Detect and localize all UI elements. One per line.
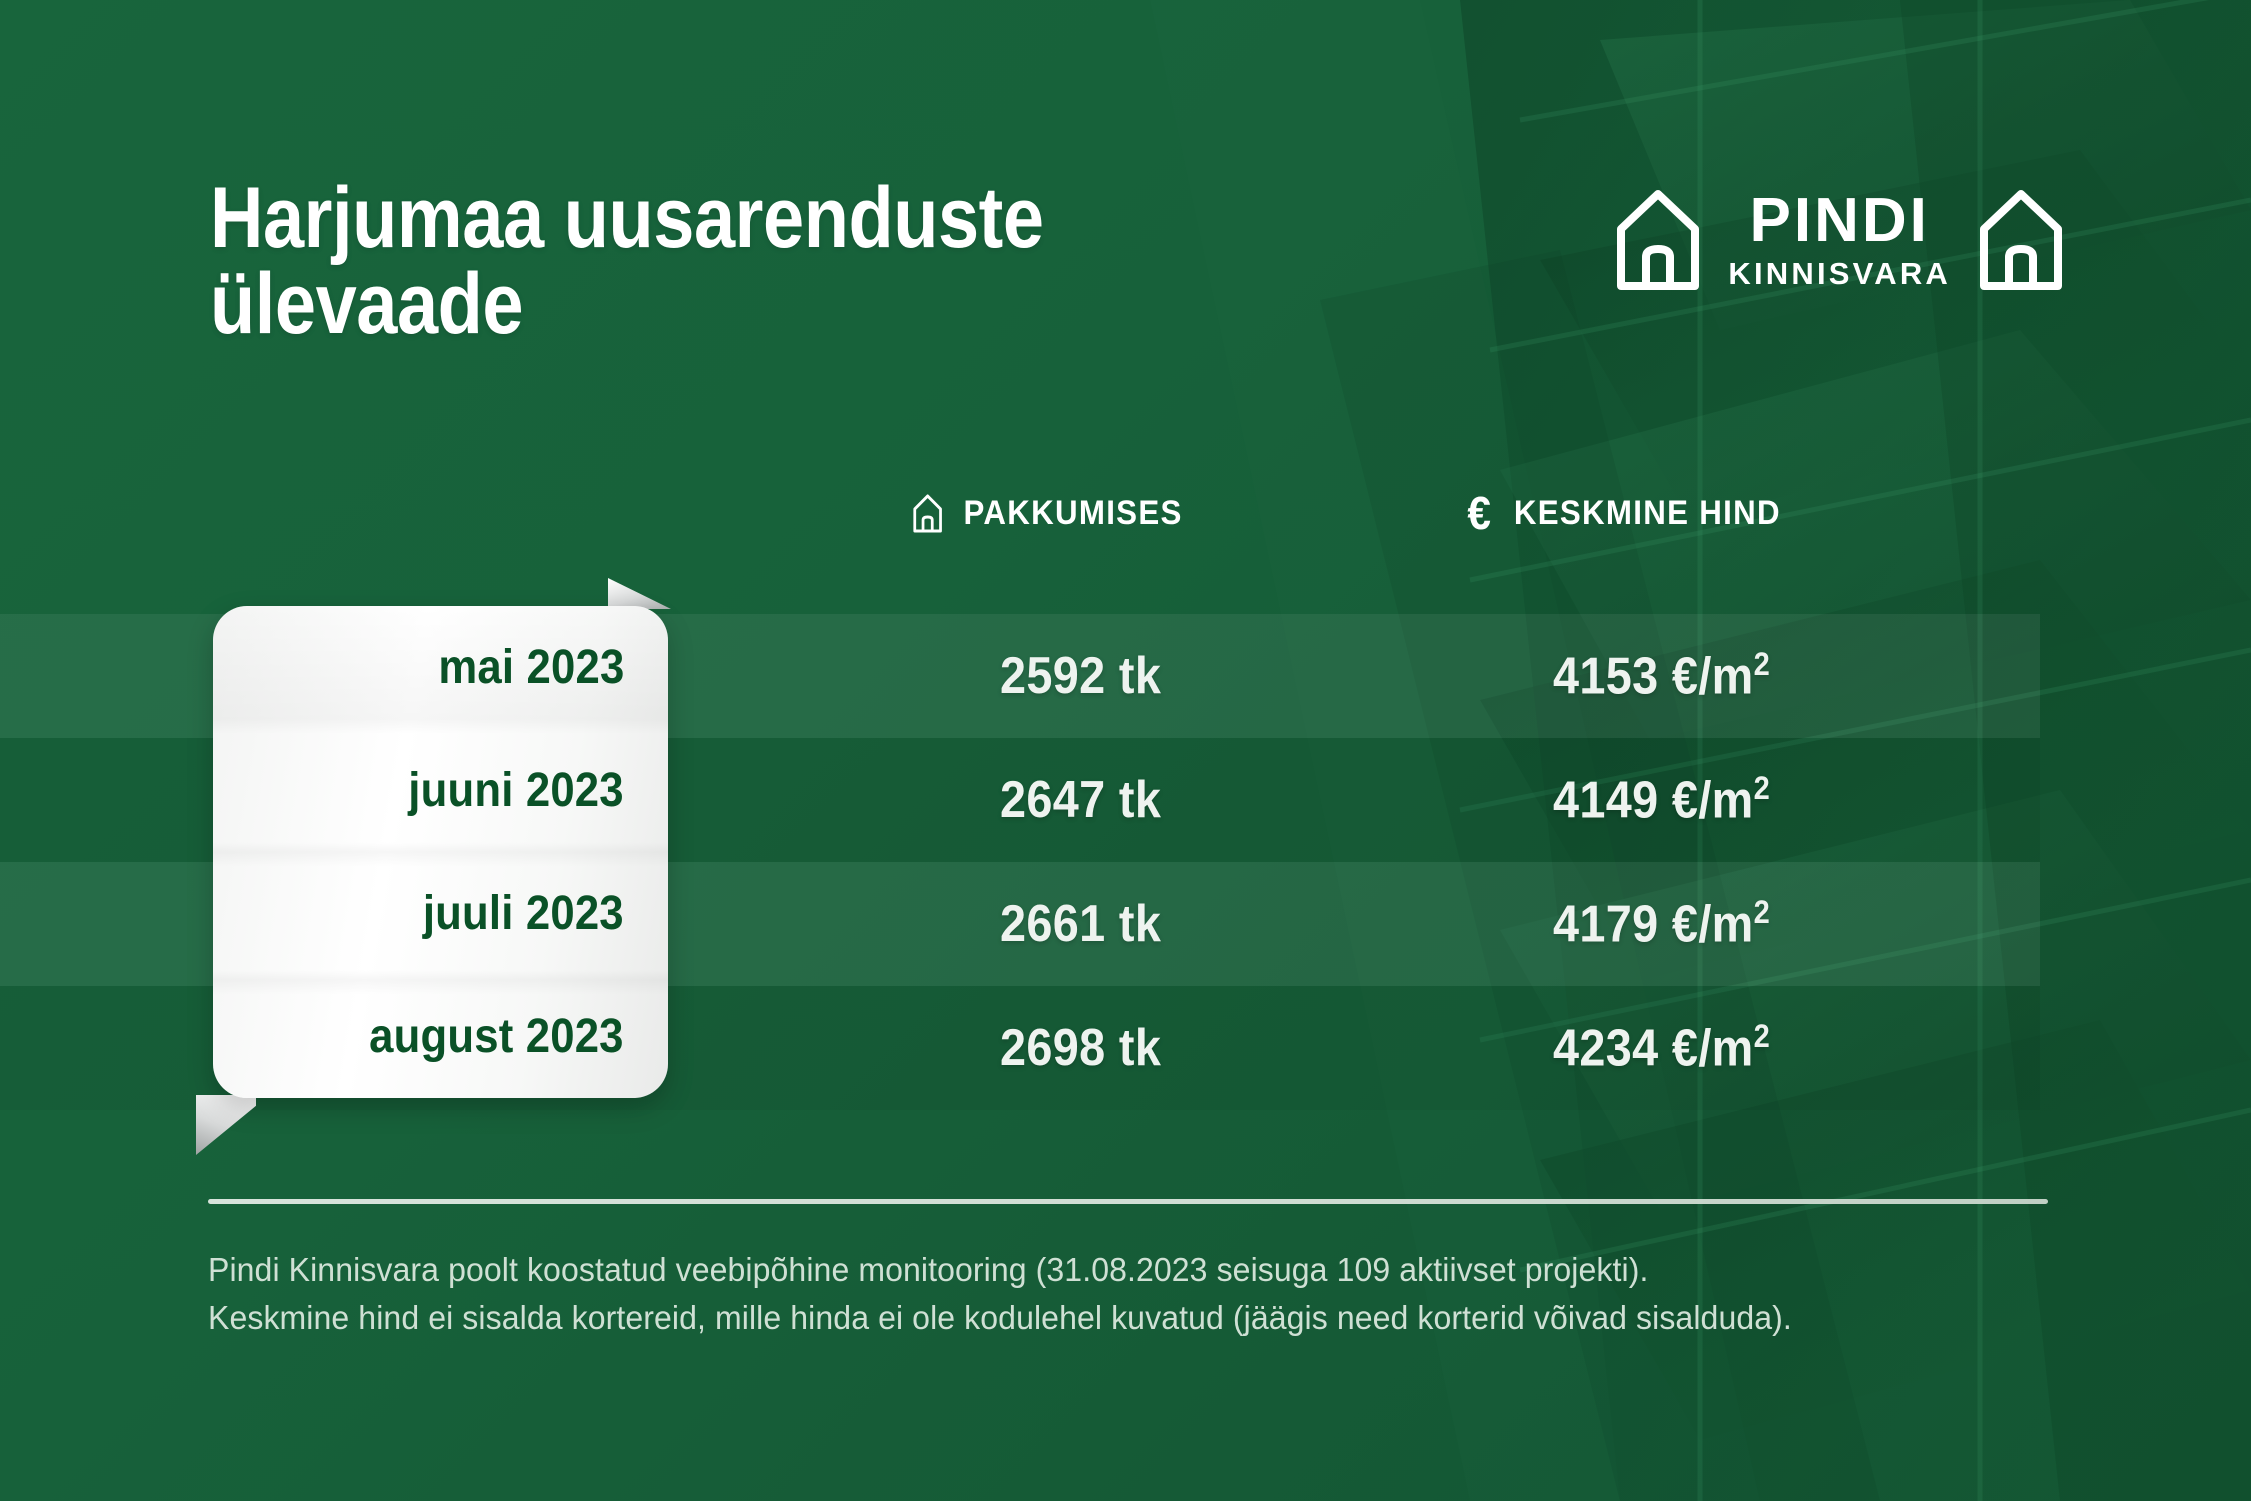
column-header-offers: PAKKUMISES	[912, 492, 1183, 534]
footnote-divider	[208, 1199, 2048, 1204]
cell-price-unit: €/m	[1672, 895, 1754, 953]
cell-price: 4149 €/m2	[1553, 770, 1770, 830]
cell-price-exponent: 2	[1754, 1018, 1770, 1054]
column-header-price: € KESKMINE HIND	[1466, 492, 1781, 534]
footnote-line-1: Pindi Kinnisvara poolt koostatud veebipõ…	[208, 1246, 2051, 1294]
cell-price-value: 4153	[1553, 647, 1659, 705]
euro-icon: €	[1466, 492, 1494, 534]
header: Harjumaa uusarenduste ülevaade PINDI KIN…	[210, 175, 2090, 347]
cell-price-unit: €/m	[1672, 1019, 1754, 1077]
cell-price-unit: €/m	[1672, 771, 1754, 829]
cell-offers: 2647 tk	[1000, 770, 1161, 830]
month-label: juuni 2023	[409, 763, 624, 818]
cell-price-value: 4179	[1553, 895, 1659, 953]
cell-price-exponent: 2	[1754, 646, 1770, 682]
footnote: Pindi Kinnisvara poolt koostatud veebipõ…	[208, 1246, 2051, 1342]
infographic-canvas: Harjumaa uusarenduste ülevaade PINDI KIN…	[0, 0, 2251, 1501]
list-item: juuli 2023	[213, 852, 668, 975]
column-header-price-label: KESKMINE HIND	[1514, 494, 1781, 533]
ribbon-fold-top-icon	[608, 578, 671, 609]
brand-wordmark: PINDI KINNISVARA	[1728, 190, 1951, 289]
month-list: mai 2023 juuni 2023 juuli 2023 august 20…	[213, 606, 668, 1098]
brand-logo[interactable]: PINDI KINNISVARA	[1614, 185, 2065, 293]
brand-subtitle: KINNISVARA	[1728, 258, 1951, 289]
brand-name: PINDI	[1750, 190, 1930, 252]
footnote-line-2: Keskmine hind ei sisalda kortereid, mill…	[208, 1294, 2051, 1342]
month-label: juuli 2023	[423, 886, 624, 941]
cell-price: 4234 €/m2	[1553, 1018, 1770, 1078]
month-ribbon: mai 2023 juuni 2023 juuli 2023 august 20…	[213, 606, 668, 1098]
cell-price-exponent: 2	[1754, 770, 1770, 806]
cell-price: 4179 €/m2	[1553, 894, 1770, 954]
cell-offers: 2592 tk	[1000, 646, 1161, 706]
list-item: august 2023	[213, 975, 668, 1098]
cell-offers: 2661 tk	[1000, 894, 1161, 954]
table-column-headers: PAKKUMISES € KESKMINE HIND	[0, 492, 2251, 556]
cell-price-value: 4234	[1553, 1019, 1659, 1077]
cell-price: 4153 €/m2	[1553, 646, 1770, 706]
house-outline-icon	[1977, 185, 2065, 293]
column-header-offers-label: PAKKUMISES	[964, 494, 1183, 533]
house-icon	[912, 492, 943, 534]
list-item: juuni 2023	[213, 729, 668, 852]
cell-price-value: 4149	[1553, 771, 1659, 829]
cell-price-unit: €/m	[1672, 647, 1754, 705]
cell-offers: 2698 tk	[1000, 1018, 1161, 1078]
page-title: Harjumaa uusarenduste ülevaade	[210, 175, 1044, 347]
cell-price-exponent: 2	[1754, 894, 1770, 930]
ribbon-fold-bottom-icon	[196, 1095, 256, 1155]
month-label: mai 2023	[438, 640, 624, 695]
month-label: august 2023	[370, 1009, 624, 1064]
list-item: mai 2023	[213, 606, 668, 729]
house-outline-icon	[1614, 185, 1702, 293]
